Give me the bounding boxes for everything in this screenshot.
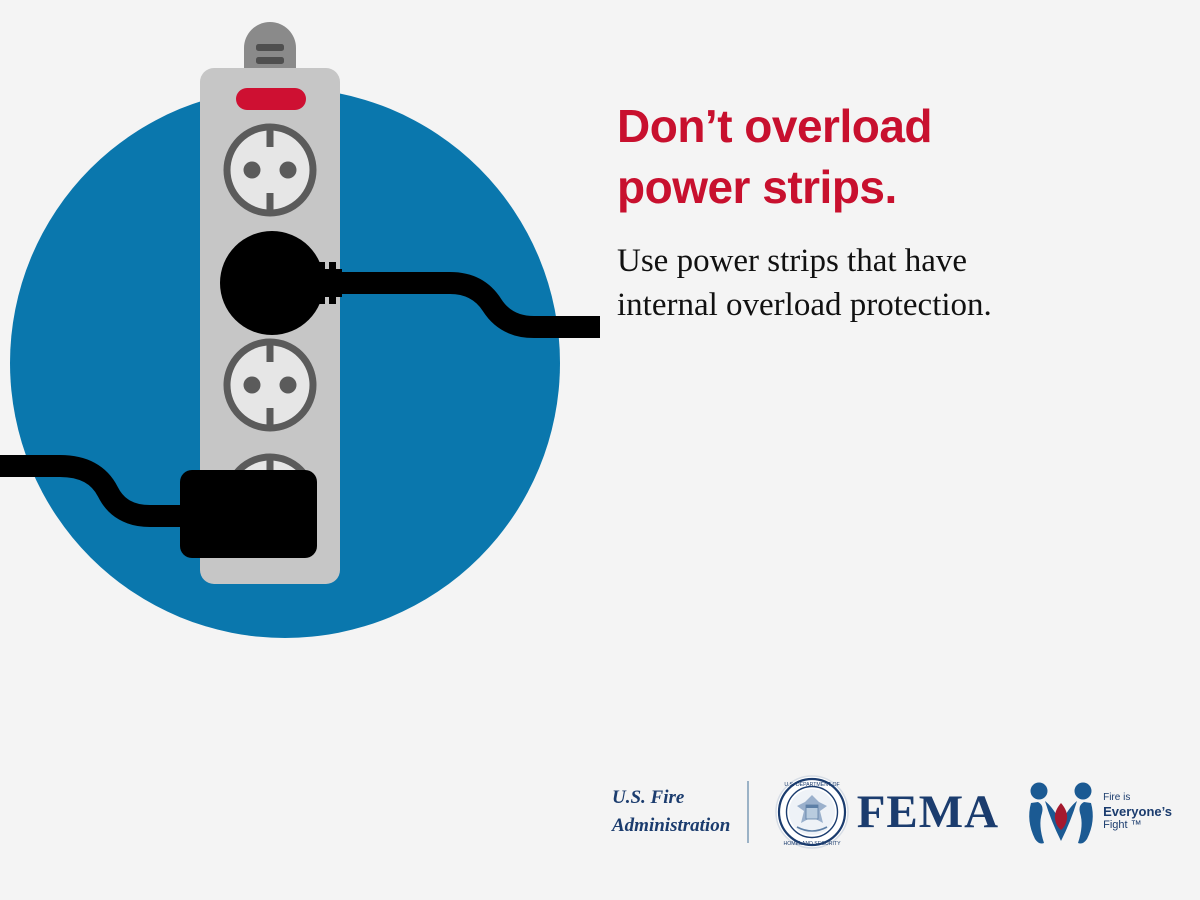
block-adapter (180, 470, 317, 558)
fief-tagline: Fire is Everyone’s Fight ™ (1103, 792, 1172, 833)
switch-bar-top (256, 44, 284, 51)
dhs-seal-top-text: U.S. DEPARTMENT OF (784, 782, 839, 788)
headline-line-2: power strips. (617, 157, 1147, 218)
headline-line-1: Don’t overload (617, 96, 1147, 157)
power-strip-illustration (0, 0, 600, 900)
fief-figures-icon (1025, 779, 1097, 845)
message-block: Don’t overload power strips. Use power s… (617, 96, 1147, 328)
socket-3 (227, 342, 313, 428)
poster-canvas: Don’t overload power strips. Use power s… (0, 0, 1200, 900)
dhs-seal-icon: U.S. DEPARTMENT OF HOMELAND SECURITY (775, 775, 849, 849)
fief-line-2: Everyone’s (1103, 804, 1172, 820)
footer-divider (747, 781, 749, 843)
dhs-seal-bottom-text: HOMELAND SECURITY (783, 841, 841, 847)
subhead-line-1: Use power strips that have (617, 240, 1147, 284)
socket-1 (227, 127, 313, 213)
power-indicator-light (236, 88, 306, 110)
usfa-line-1: U.S. Fire (612, 784, 735, 812)
fief-line-1: Fire is (1103, 792, 1172, 804)
subheadline: Use power strips that have internal over… (617, 240, 1147, 328)
fema-wordmark: FEMA (857, 789, 999, 836)
fire-is-everyones-fight-logo: Fire is Everyone’s Fight ™ (1025, 779, 1172, 845)
footer-logo-bar: U.S. Fire Administration U.S. DEPARTMENT… (612, 772, 1172, 852)
usfa-logo: U.S. Fire Administration (612, 784, 735, 839)
subhead-line-2: internal overload protection. (617, 284, 1147, 328)
fief-line-3: Fight ™ (1103, 819, 1172, 832)
page-title: Don’t overload power strips. (617, 96, 1147, 218)
usfa-line-2: Administration (612, 812, 735, 840)
switch-bar-bottom (256, 57, 284, 64)
